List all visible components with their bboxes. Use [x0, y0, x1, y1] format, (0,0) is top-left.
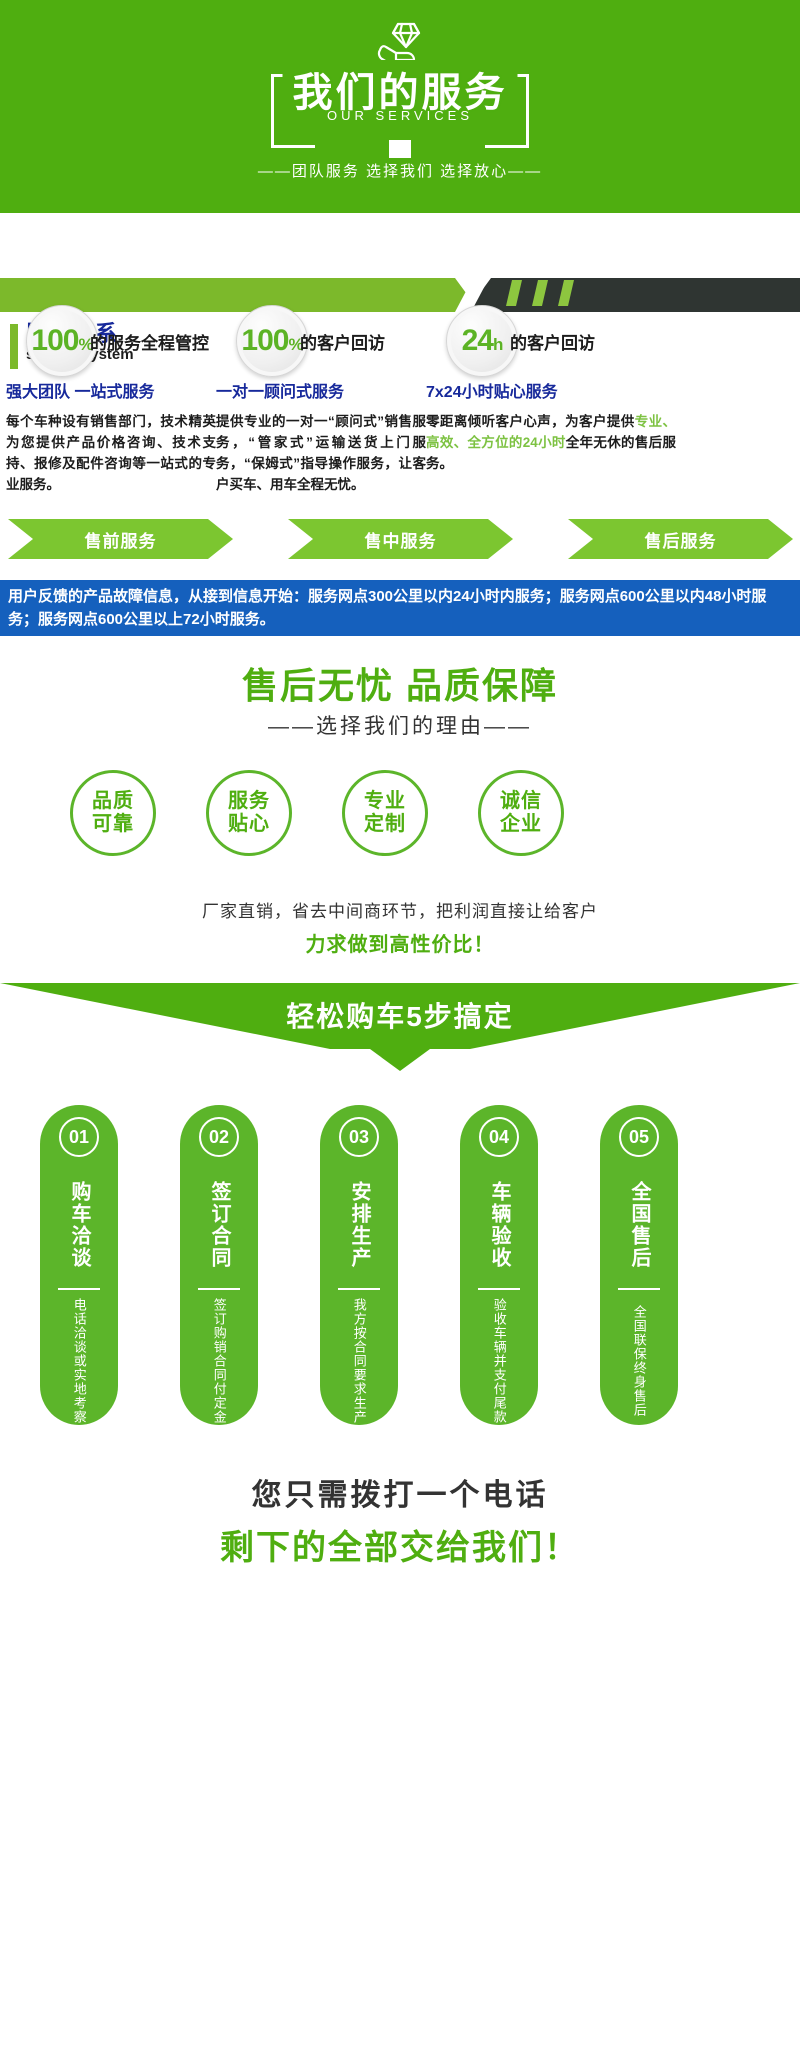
- step-number: 03: [339, 1117, 379, 1157]
- reason-line1: 服务: [228, 790, 270, 813]
- step-title: 安排生产: [347, 1165, 371, 1284]
- badge-item: 24h 的客户回访: [446, 305, 595, 377]
- title-frame-tab: [389, 140, 411, 158]
- step-number: 05: [619, 1117, 659, 1157]
- step-card[interactable]: 03 安排生产 我方按合同要求生产: [320, 1105, 398, 1425]
- badge-number: 100: [241, 324, 288, 357]
- column-title: 7x24小时贴心服务: [426, 378, 676, 402]
- service-column: 一对一顾问式服务 提供专业的一对一“顾问式”销售服务，“管家式”运输送货上门服务…: [216, 378, 426, 496]
- down-triangle-icon: [370, 1049, 430, 1071]
- step-divider: [338, 1288, 380, 1290]
- badge-number: 100: [31, 324, 78, 357]
- chevron-in-sale[interactable]: 售中服务: [288, 519, 513, 559]
- service-column: 强大团队 一站式服务 每个车种设有销售部门，技术精英为您提供产品价格咨询、技术支…: [6, 378, 216, 496]
- badge-circle: 100%: [26, 305, 98, 377]
- chevron-pre-sale[interactable]: 售前服务: [8, 519, 233, 559]
- reason-line1: 诚信: [500, 790, 542, 813]
- reason-circle-quality: 品质 可靠: [70, 770, 156, 856]
- hero-slogan: ——团队服务 选择我们 选择放心——: [0, 160, 800, 181]
- chevron-after-sale[interactable]: 售后服务: [568, 519, 793, 559]
- hero-banner: 我们的服务 OUR SERVICES ——团队服务 选择我们 选择放心——: [0, 0, 800, 213]
- badge-circle: 24h: [446, 305, 518, 377]
- service-policy-bar: 用户反馈的产品故障信息，从接到信息开始：服务网点300公里以内24小时内服务；服…: [0, 580, 800, 636]
- badge-unit: h: [493, 335, 502, 354]
- step-description: 验收车辆并支付尾款: [490, 1296, 508, 1425]
- page-subtitle: OUR SERVICES: [327, 108, 473, 123]
- step-card[interactable]: 04 车辆验收 验收车辆并支付尾款: [460, 1105, 538, 1425]
- reason-circle-row: 品质 可靠 服务 贴心 专业 定制 诚信 企业: [0, 770, 800, 870]
- step-title: 全国售后: [627, 1165, 651, 1284]
- column-title: 强大团队 一站式服务: [6, 378, 216, 402]
- steps-banner: 轻松购车5步搞定: [0, 983, 800, 1068]
- service-column: 7x24小时贴心服务 零距离倾听客户心声，为客户提供专业、高效、全方位的24小时…: [426, 378, 676, 475]
- footer-line-2: 剩下的全部交给我们！: [0, 1520, 800, 1569]
- step-card[interactable]: 05 全国售后 全国联保终身售后: [600, 1105, 678, 1425]
- step-card[interactable]: 02 签订合同 签订购销合同付定金: [180, 1105, 258, 1425]
- reason-circle-integrity: 诚信 企业: [478, 770, 564, 856]
- column-body-part1: 零距离倾听客户心声，为客户提供: [426, 414, 635, 429]
- step-card[interactable]: 01 购车洽谈 电话洽谈或实地考察: [40, 1105, 118, 1425]
- step-number: 04: [479, 1117, 519, 1157]
- badge-label: 的服务全程管控: [90, 329, 209, 354]
- column-title: 一对一顾问式服务: [216, 378, 426, 402]
- reasons-title: 售后无忧 品质保障: [0, 657, 800, 709]
- step-divider: [58, 1288, 100, 1290]
- badge-label: 的客户回访: [300, 329, 385, 354]
- column-body: 每个车种设有销售部门，技术精英为您提供产品价格咨询、技术支持、报修及配件咨询等一…: [6, 412, 216, 496]
- step-number: 02: [199, 1117, 239, 1157]
- badge-label: 的客户回访: [510, 329, 595, 354]
- reason-line1: 专业: [364, 790, 406, 813]
- badge-item: 100% 的服务全程管控: [26, 305, 209, 377]
- reasons-subtitle: ——选择我们的理由——: [0, 710, 800, 740]
- chevron-row: 售前服务 售中服务 售后服务: [0, 519, 800, 559]
- step-description: 我方按合同要求生产: [350, 1296, 368, 1425]
- badge-item: 100% 的客户回访: [236, 305, 385, 377]
- step-description: 签订购销合同付定金: [210, 1296, 228, 1425]
- step-description: 电话洽谈或实地考察: [70, 1296, 88, 1425]
- reason-line2: 企业: [500, 813, 542, 836]
- step-divider: [478, 1288, 520, 1290]
- badge-circle: 100%: [236, 305, 308, 377]
- footer-line-1: 您只需拨打一个电话: [0, 1470, 800, 1514]
- badge-number: 24: [462, 324, 493, 357]
- reason-circle-custom: 专业 定制: [342, 770, 428, 856]
- step-number: 01: [59, 1117, 99, 1157]
- reason-circle-service: 服务 贴心: [206, 770, 292, 856]
- step-divider: [198, 1288, 240, 1290]
- promo-line-1: 厂家直销，省去中间商环节，把利润直接让给客户: [0, 897, 800, 922]
- step-title: 签订合同: [207, 1165, 231, 1284]
- reason-line2: 定制: [364, 813, 406, 836]
- reason-line2: 可靠: [92, 813, 134, 836]
- reason-line1: 品质: [92, 790, 134, 813]
- reason-line2: 贴心: [228, 813, 270, 836]
- step-title: 车辆验收: [487, 1165, 511, 1284]
- step-divider: [618, 1288, 660, 1290]
- column-body: 提供专业的一对一“顾问式”销售服务，“管家式”运输送货上门服务，“保姆式”指导操…: [216, 412, 426, 496]
- promo-line-2: 力求做到高性价比！: [0, 928, 800, 957]
- purchase-steps: 01 购车洽谈 电话洽谈或实地考察 02 签订合同 签订购销合同付定金 03 安…: [0, 1105, 800, 1425]
- step-title: 购车洽谈: [67, 1165, 91, 1284]
- steps-banner-title: 轻松购车5步搞定: [0, 995, 800, 1035]
- column-body: 零距离倾听客户心声，为客户提供专业、高效、全方位的24小时全年无休的售后服务。: [426, 412, 676, 475]
- step-description: 全国联保终身售后: [630, 1296, 648, 1425]
